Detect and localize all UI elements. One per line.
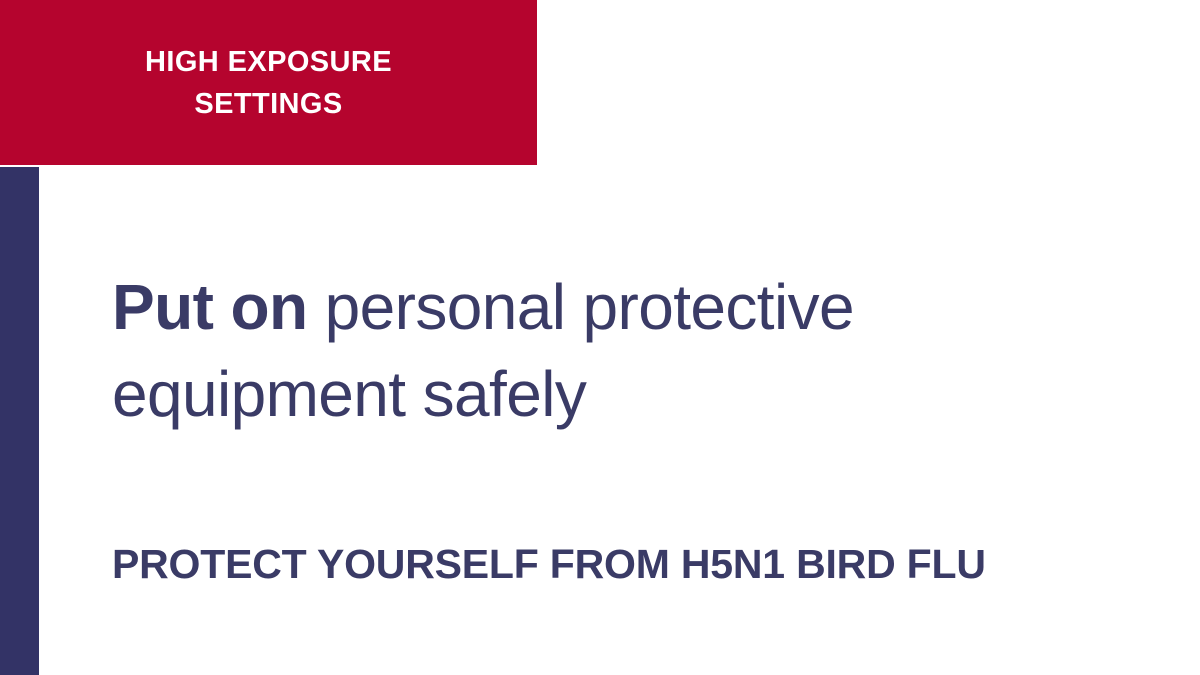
left-accent-bar (0, 167, 39, 675)
content-column: Put on personal protective equipment saf… (112, 0, 1172, 675)
slide-canvas: HIGH EXPOSURE SETTINGS Put on personal p… (0, 0, 1200, 675)
campaign-kicker: PROTECT YOURSELF FROM H5N1 BIRD FLU (112, 538, 1112, 590)
page-title: Put on personal protective equipment saf… (112, 264, 1112, 438)
headline-emphasis: Put on (112, 271, 307, 343)
